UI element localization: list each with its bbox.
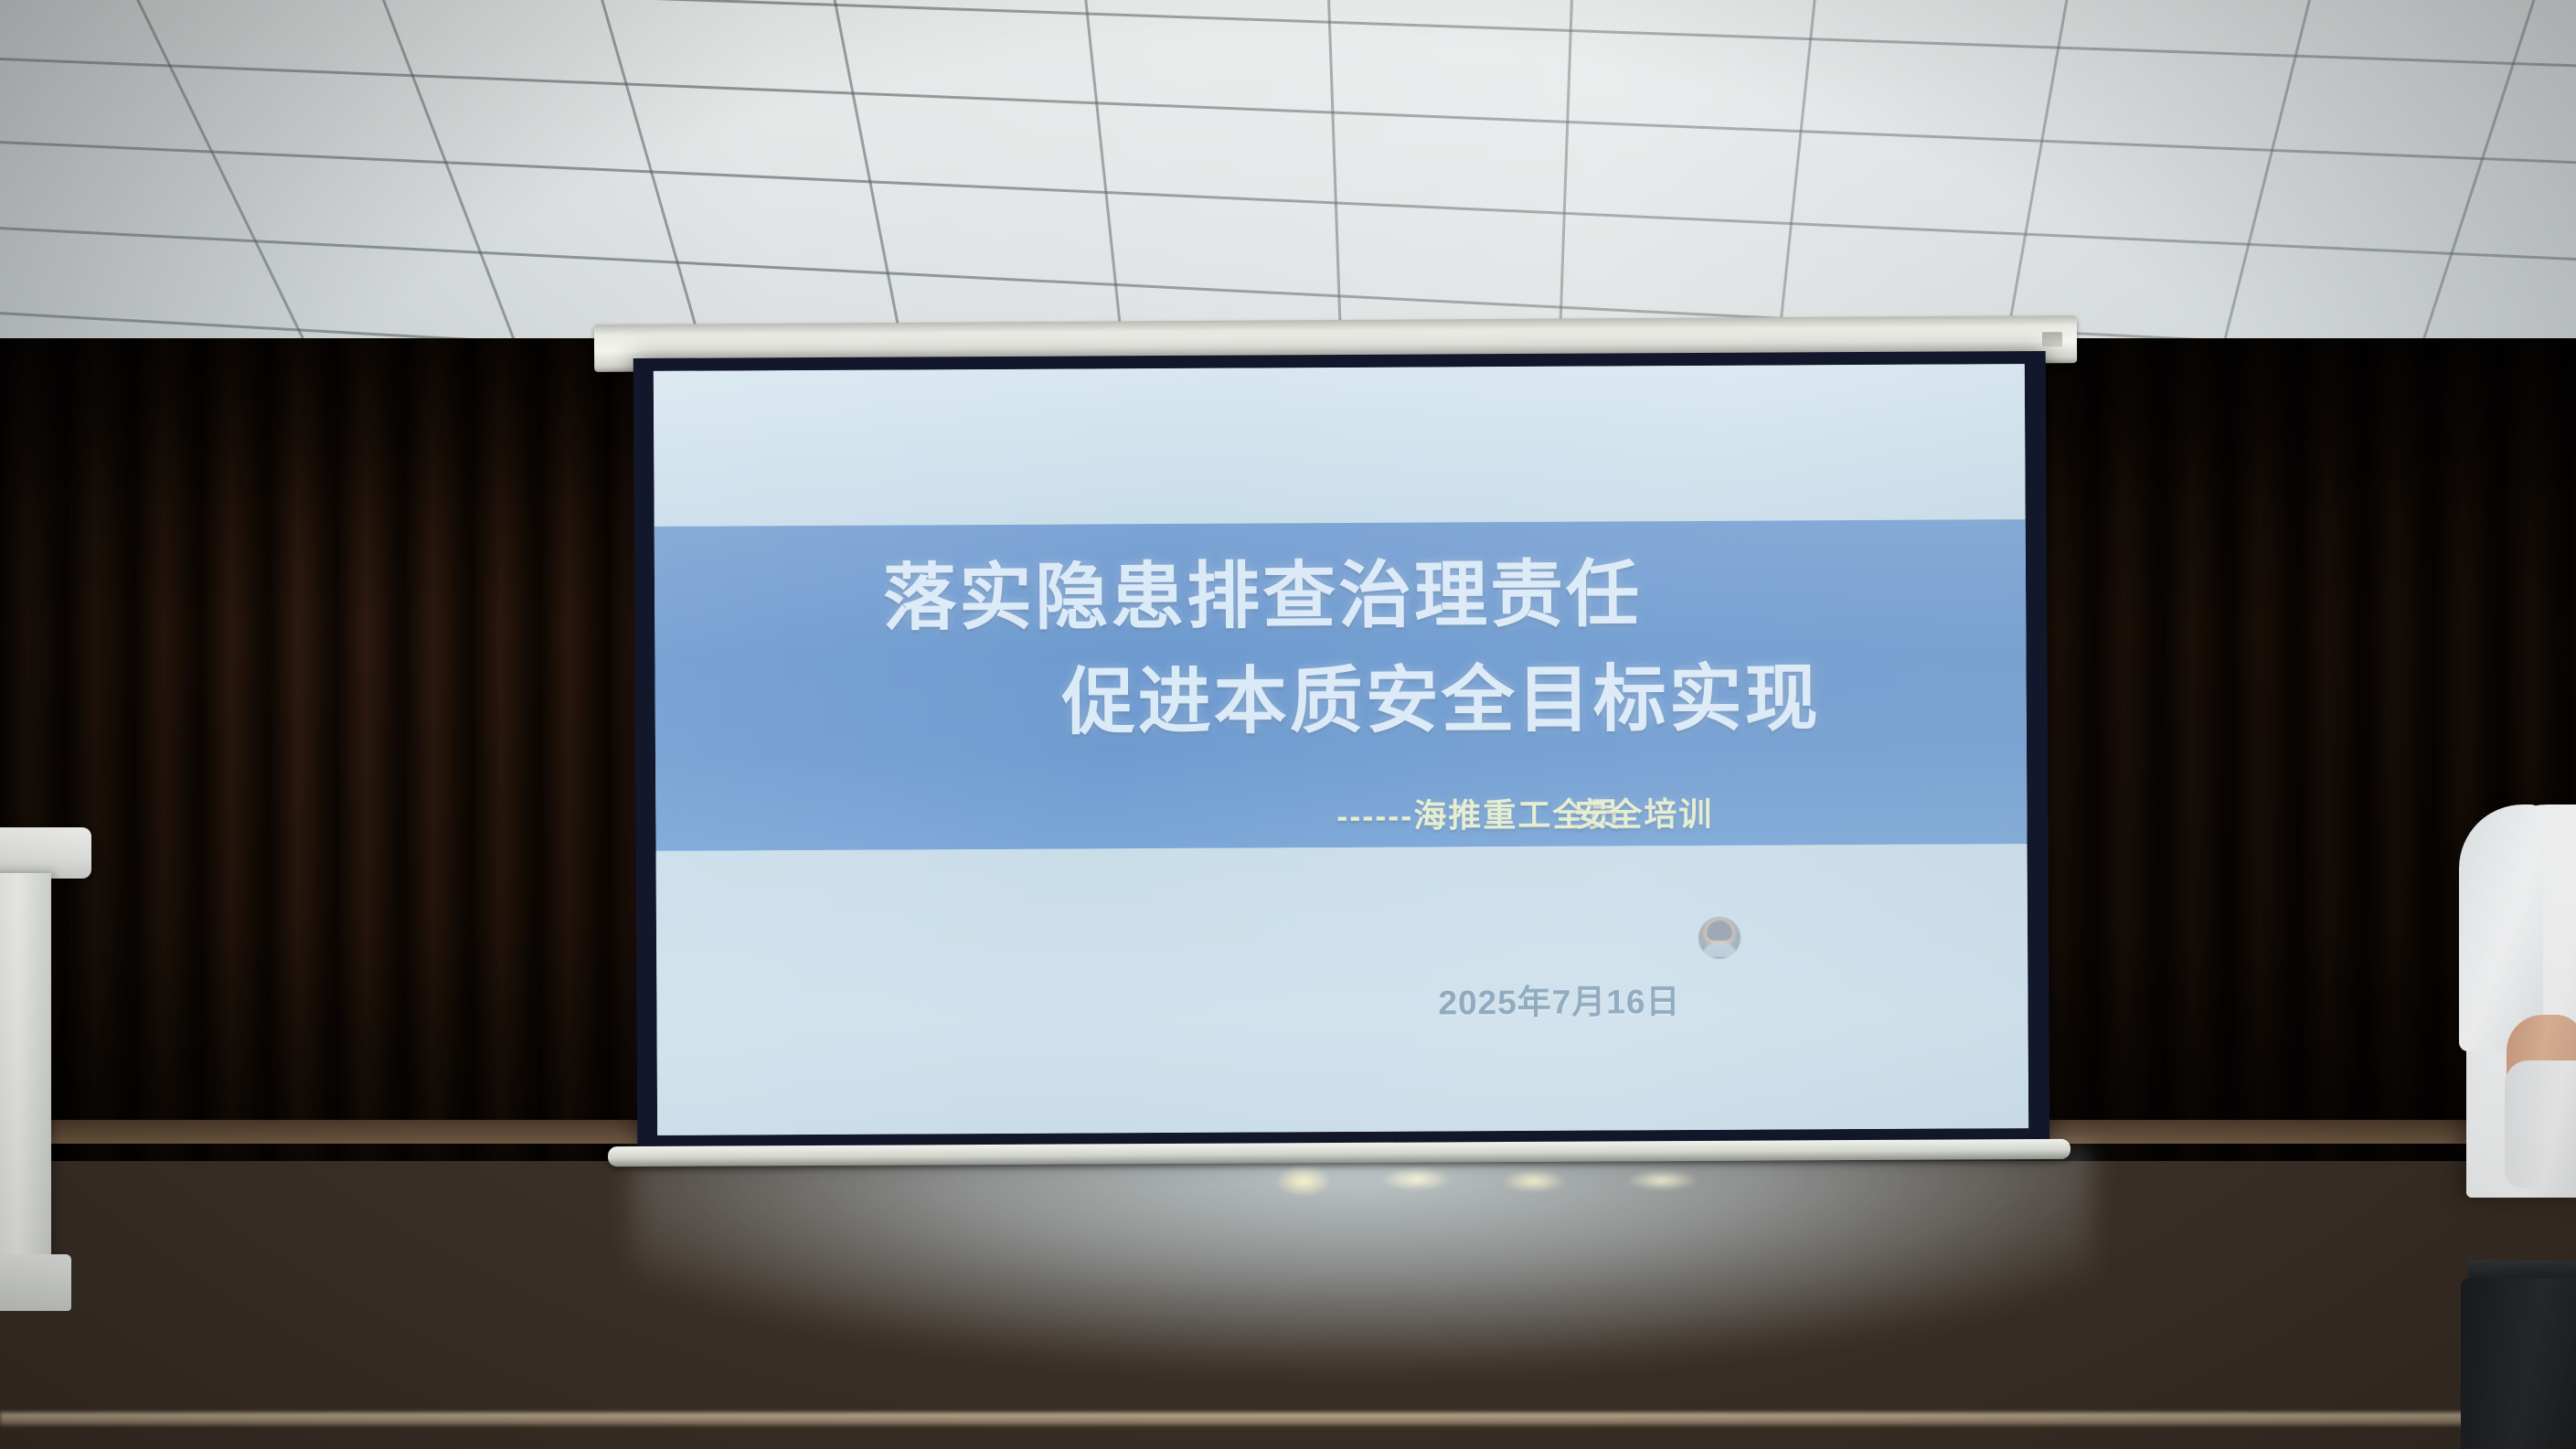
attendee-shirt-front — [2505, 1060, 2576, 1188]
attendee-trousers — [2461, 1278, 2576, 1449]
floor-edge-seam — [0, 1412, 2576, 1425]
housing-endcap-icon — [2042, 332, 2062, 346]
photo-scene: 落实隐患排查治理责任 促进本质安全目标实现 ------海推重工全员 安全培训 … — [0, 0, 2576, 1449]
ceiling-tile-grid — [0, 0, 2576, 361]
light-reflection-behind-screen — [1252, 1163, 1764, 1199]
slide-subtitle-topic: 安全培训 — [1574, 788, 1713, 836]
projected-slide: 落实隐患排查治理责任 促进本质安全目标实现 ------海推重工全员 安全培训 … — [654, 364, 2028, 1135]
lectern-body[interactable] — [0, 873, 51, 1266]
projection-screen[interactable]: 落实隐患排查治理责任 促进本质安全目标实现 ------海推重工全员 安全培训 … — [633, 351, 2050, 1158]
slide-date: 2025年7月16日 — [1438, 974, 1680, 1024]
slide-band-top — [654, 364, 2026, 527]
slide-title-line-1: 落实隐患排查治理责任 — [883, 535, 1643, 645]
lectern-top[interactable] — [0, 827, 91, 879]
lectern-base — [0, 1254, 71, 1311]
presenter-avatar-icon — [1698, 917, 1740, 959]
slide-title-line-2: 促进本质安全目标实现 — [1061, 639, 1821, 749]
attendee-sleeve — [2459, 804, 2543, 1051]
slide-band-bottom — [656, 844, 2029, 1135]
